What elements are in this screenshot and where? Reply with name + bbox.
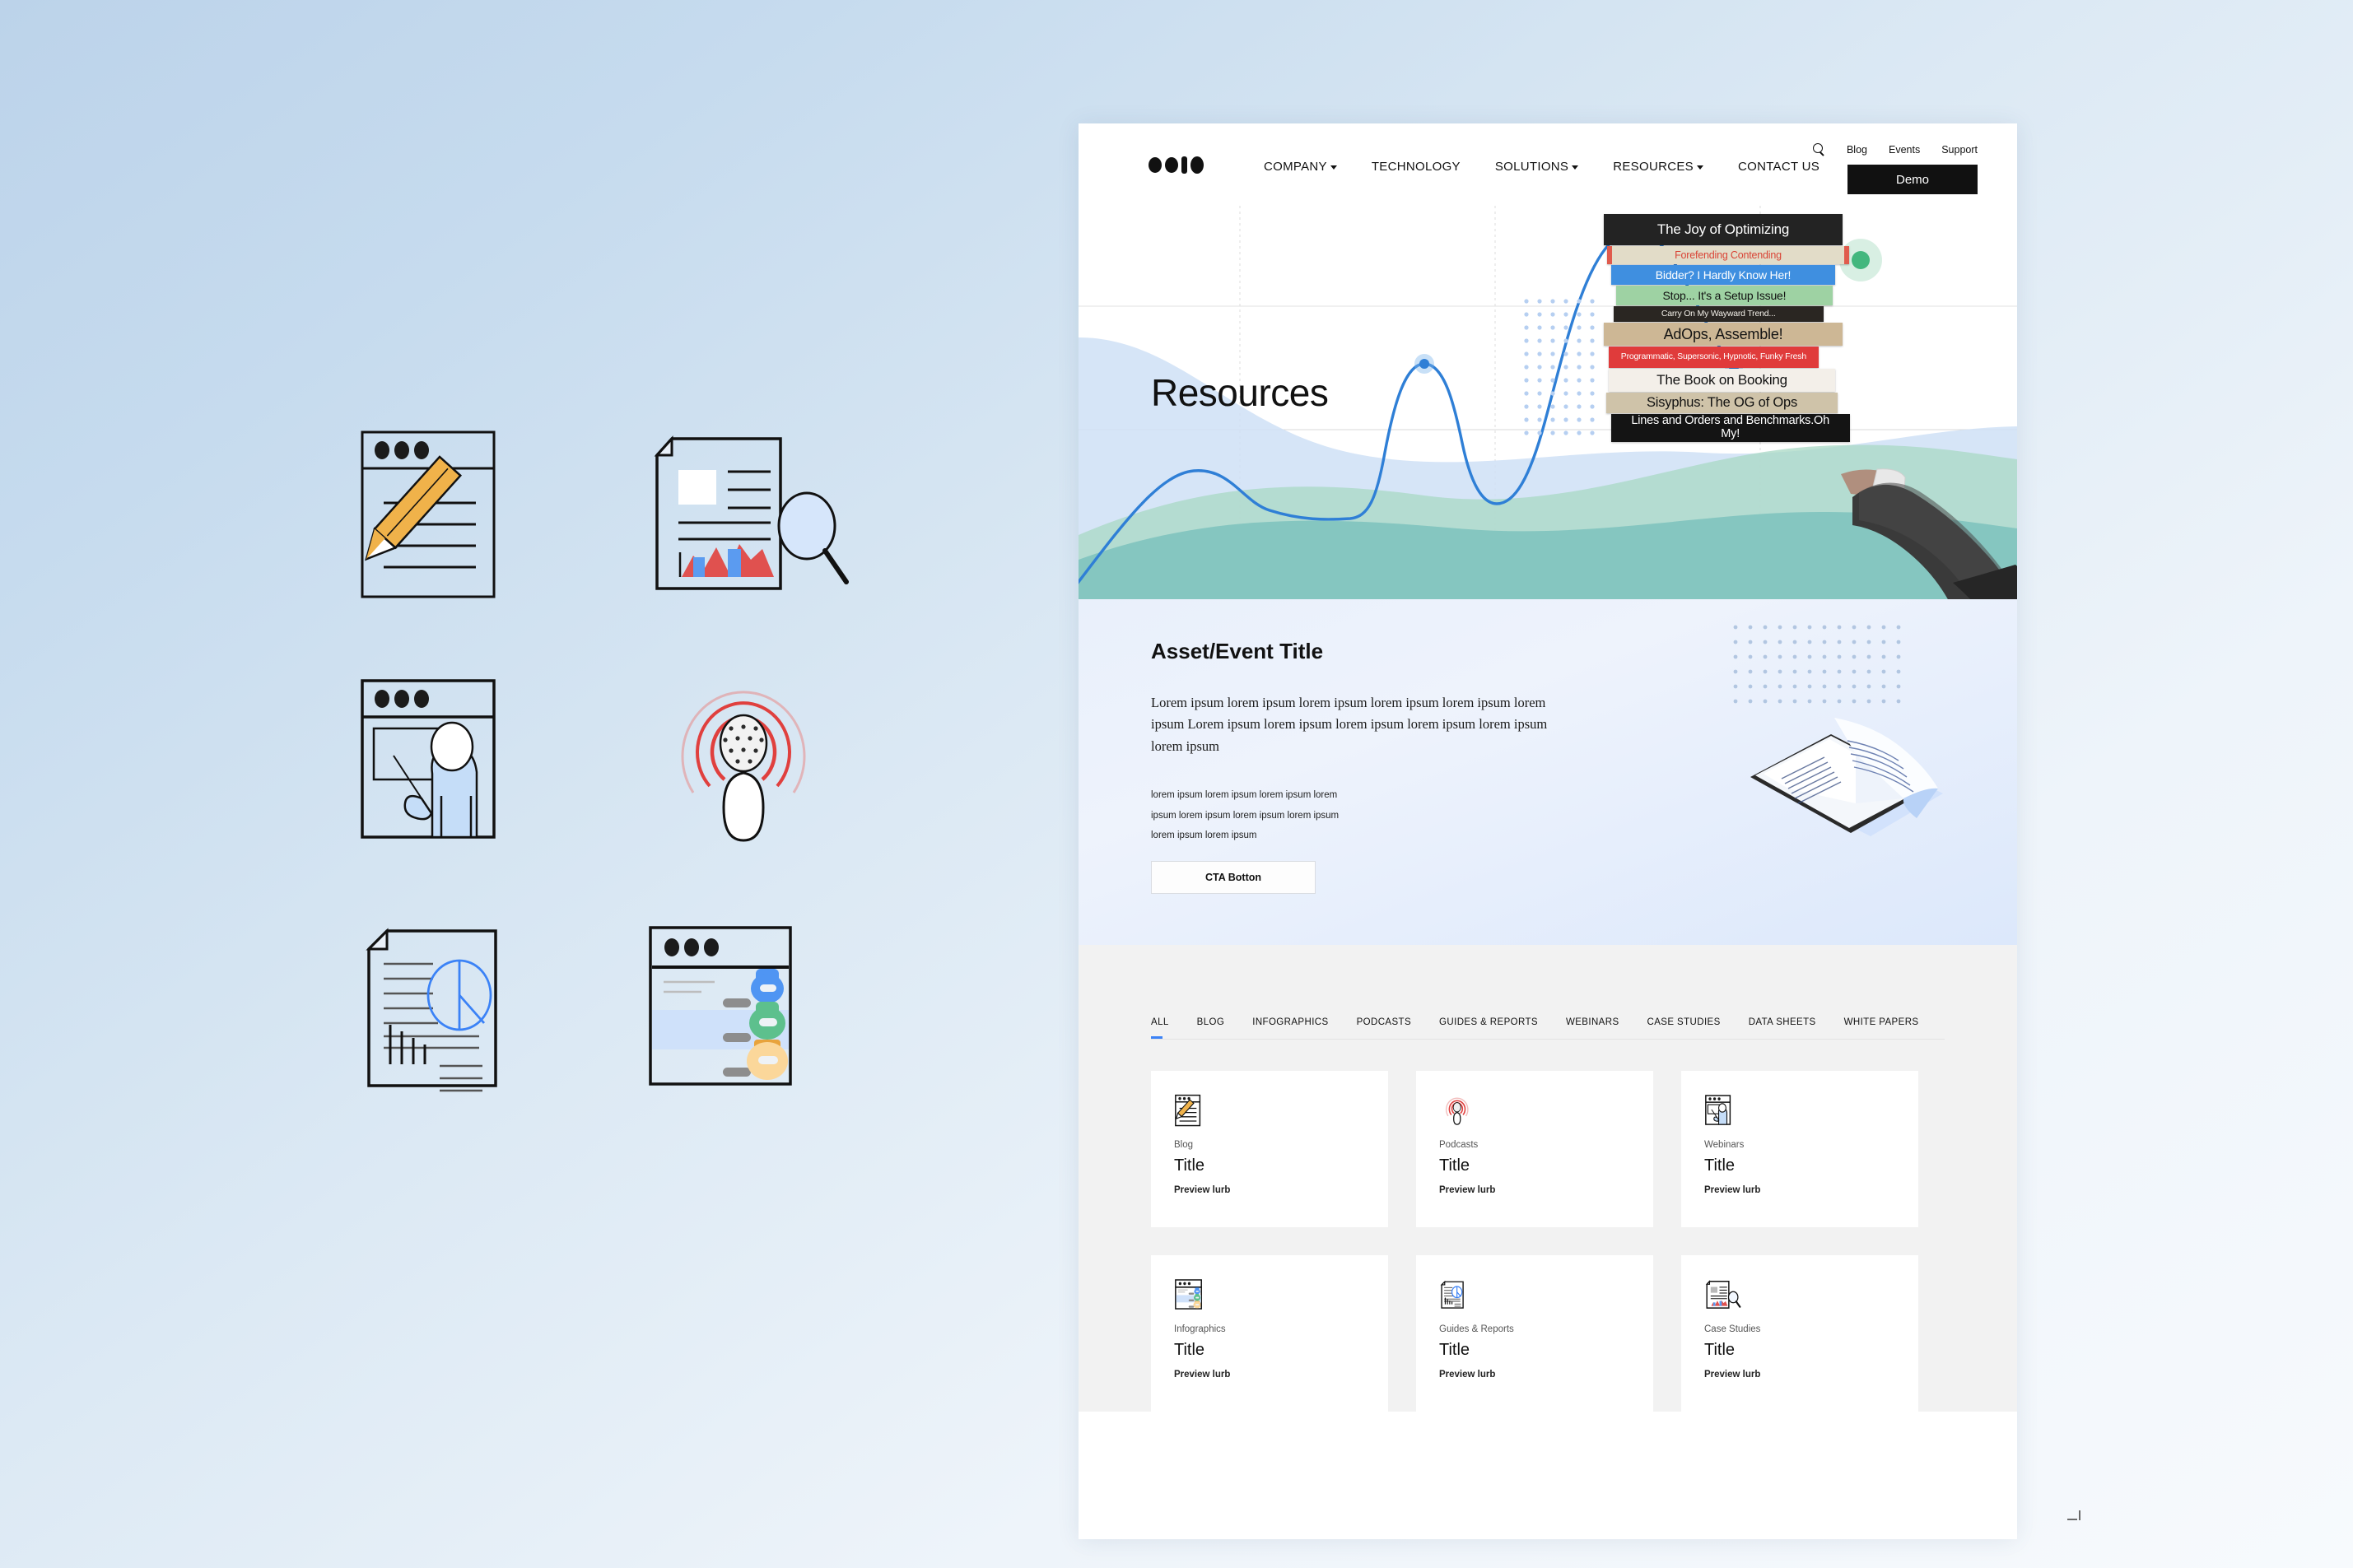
nav-item-technology[interactable]: TECHNOLOGY: [1372, 160, 1461, 174]
book-item: Programmatic, Supersonic, Hypnotic, Funk…: [1609, 347, 1819, 368]
book-stack: The Joy of Optimizing Forefending Conten…: [1604, 214, 1843, 443]
infographic-dashboard-icon: [1174, 1277, 1388, 1314]
card-title: Title: [1704, 1341, 1918, 1360]
book-item: Carry On My Wayward Trend...: [1614, 306, 1824, 322]
oolo-logo[interactable]: [1149, 156, 1204, 174]
resource-card[interactable]: Blog Title Preview lurb: [1151, 1071, 1388, 1227]
utility-link-blog[interactable]: Blog: [1847, 144, 1867, 156]
resource-listing-section: ALL BLOG INFOGRAPHICS PODCASTS GUIDES & …: [1079, 945, 2017, 1412]
tab-all[interactable]: ALL: [1151, 1017, 1169, 1039]
showcase-webinar-presenter-icon: [354, 671, 642, 918]
card-title: Title: [1174, 1156, 1388, 1175]
card-kind: Infographics: [1174, 1324, 1388, 1334]
nav-label: COMPANY: [1264, 160, 1327, 174]
asset-heading: Asset/Event Title: [1151, 639, 1323, 664]
showcase-case-study-magnifier-icon: [642, 424, 930, 671]
tab-podcasts[interactable]: PODCASTS: [1357, 1017, 1411, 1039]
card-preview: Preview lurb: [1174, 1185, 1388, 1195]
tab-data-sheets[interactable]: DATA SHEETS: [1749, 1017, 1816, 1039]
nav-label: CONTACT US: [1738, 160, 1819, 174]
blog-pencil-icon: [1174, 1092, 1388, 1130]
card-title: Title: [1704, 1156, 1918, 1175]
card-title: Title: [1174, 1341, 1388, 1360]
suited-arm-holding-books-illustration: [1838, 444, 2017, 599]
chevron-down-icon: [1330, 165, 1337, 170]
book-item: Forefending Contending: [1607, 246, 1848, 264]
podcast-mic-icon: [1439, 1092, 1653, 1130]
tab-guides-reports[interactable]: GUIDES & REPORTS: [1439, 1017, 1538, 1039]
nav-label: RESOURCES: [1613, 160, 1694, 174]
main-navigation: COMPANY TECHNOLOGY SOLUTIONS RESOURCES C…: [1264, 160, 1819, 174]
asset-subtext: lorem ipsum lorem ipsum lorem ipsum lore…: [1151, 785, 1497, 846]
book-item: The Joy of Optimizing: [1604, 214, 1843, 245]
icon-showcase-row: [354, 671, 930, 918]
search-icon[interactable]: [1813, 143, 1825, 156]
demo-button[interactable]: Demo: [1847, 165, 1978, 194]
webinar-presenter-icon: [1704, 1092, 1918, 1130]
asset-event-section: Asset/Event Title Lorem ipsum lorem ipsu…: [1079, 599, 2017, 945]
open-book-on-tablet-illustration: [1739, 688, 1969, 844]
website-mockup: COMPANY TECHNOLOGY SOLUTIONS RESOURCES C…: [1079, 123, 2017, 1539]
book-item: Stop... It's a Setup Issue!: [1616, 286, 1833, 305]
resource-card[interactable]: Infographics Title Preview lurb: [1151, 1255, 1388, 1412]
cta-button[interactable]: CTA Botton: [1151, 861, 1316, 894]
asset-subtext-line: lorem ipsum lorem ipsum: [1151, 826, 1497, 846]
asset-lead-paragraph: Lorem ipsum lorem ipsum lorem ipsum lore…: [1151, 692, 1579, 758]
tab-blog[interactable]: BLOG: [1197, 1017, 1225, 1039]
card-title: Title: [1439, 1341, 1653, 1360]
card-kind: Blog: [1174, 1140, 1388, 1150]
utility-link-support[interactable]: Support: [1941, 144, 1978, 156]
showcase-podcast-mic-icon: [642, 671, 930, 918]
card-preview: Preview lurb: [1439, 1185, 1653, 1195]
tab-white-papers[interactable]: WHITE PAPERS: [1844, 1017, 1919, 1039]
nav-item-resources[interactable]: RESOURCES: [1613, 160, 1703, 174]
book-item: Lines and Orders and Benchmarks.Oh My!: [1611, 414, 1850, 442]
nav-item-company[interactable]: COMPANY: [1264, 160, 1337, 174]
site-header: COMPANY TECHNOLOGY SOLUTIONS RESOURCES C…: [1079, 123, 2017, 206]
chevron-down-icon: [1572, 165, 1578, 170]
card-kind: Guides & Reports: [1439, 1324, 1653, 1334]
resource-card[interactable]: Webinars Title Preview lurb: [1681, 1071, 1918, 1227]
card-kind: Podcasts: [1439, 1140, 1653, 1150]
asset-subtext-line: lorem ipsum lorem ipsum lorem ipsum lore…: [1151, 785, 1497, 806]
showcase-report-piechart-icon: [354, 918, 642, 1165]
resource-card-grid: Blog Title Preview lurb Podcasts Title P…: [1079, 1040, 2017, 1412]
card-preview: Preview lurb: [1174, 1370, 1388, 1380]
card-kind: Case Studies: [1704, 1324, 1918, 1334]
nav-item-solutions[interactable]: SOLUTIONS: [1495, 160, 1578, 174]
case-study-magnifier-icon: [1704, 1277, 1918, 1314]
crop-corner-mark: [2067, 1507, 2080, 1520]
icon-showcase-row: [354, 424, 930, 671]
resource-card[interactable]: Guides & Reports Title Preview lurb: [1416, 1255, 1653, 1412]
book-item: Sisyphus: The OG of Ops: [1606, 393, 1838, 413]
nav-label: TECHNOLOGY: [1372, 160, 1461, 174]
utility-link-events[interactable]: Events: [1889, 144, 1920, 156]
showcase-infographic-dashboard-icon: [642, 918, 930, 1165]
chevron-down-icon: [1697, 165, 1703, 170]
nav-item-contact-us[interactable]: CONTACT US: [1738, 160, 1819, 174]
tab-infographics[interactable]: INFOGRAPHICS: [1252, 1017, 1328, 1039]
card-kind: Webinars: [1704, 1140, 1918, 1150]
page-title: Resources: [1151, 370, 1328, 415]
book-item: Bidder? I Hardly Know Her!: [1611, 265, 1836, 285]
utility-navigation: Blog Events Support: [1813, 143, 1978, 156]
tab-webinars[interactable]: WEBINARS: [1566, 1017, 1619, 1039]
hero-section: Resources The Joy of Optimizing Forefend…: [1079, 206, 2017, 599]
book-item: AdOps, Assemble!: [1604, 323, 1843, 346]
icon-showcase: [354, 424, 930, 1165]
card-title: Title: [1439, 1156, 1653, 1175]
card-preview: Preview lurb: [1704, 1185, 1918, 1195]
resource-card[interactable]: Case Studies Title Preview lurb: [1681, 1255, 1918, 1412]
book-item: The Book on Booking: [1609, 369, 1836, 392]
showcase-blog-pencil-icon: [354, 424, 642, 671]
card-preview: Preview lurb: [1439, 1370, 1653, 1380]
tab-case-studies[interactable]: CASE STUDIES: [1647, 1017, 1721, 1039]
report-piechart-icon: [1439, 1277, 1653, 1314]
card-preview: Preview lurb: [1704, 1370, 1918, 1380]
asset-subtext-line: ipsum lorem ipsum lorem ipsum lorem ipsu…: [1151, 806, 1497, 826]
icon-showcase-row: [354, 918, 930, 1165]
resource-filter-tabs: ALL BLOG INFOGRAPHICS PODCASTS GUIDES & …: [1079, 945, 2017, 1039]
resource-card[interactable]: Podcasts Title Preview lurb: [1416, 1071, 1653, 1227]
nav-label: SOLUTIONS: [1495, 160, 1568, 174]
